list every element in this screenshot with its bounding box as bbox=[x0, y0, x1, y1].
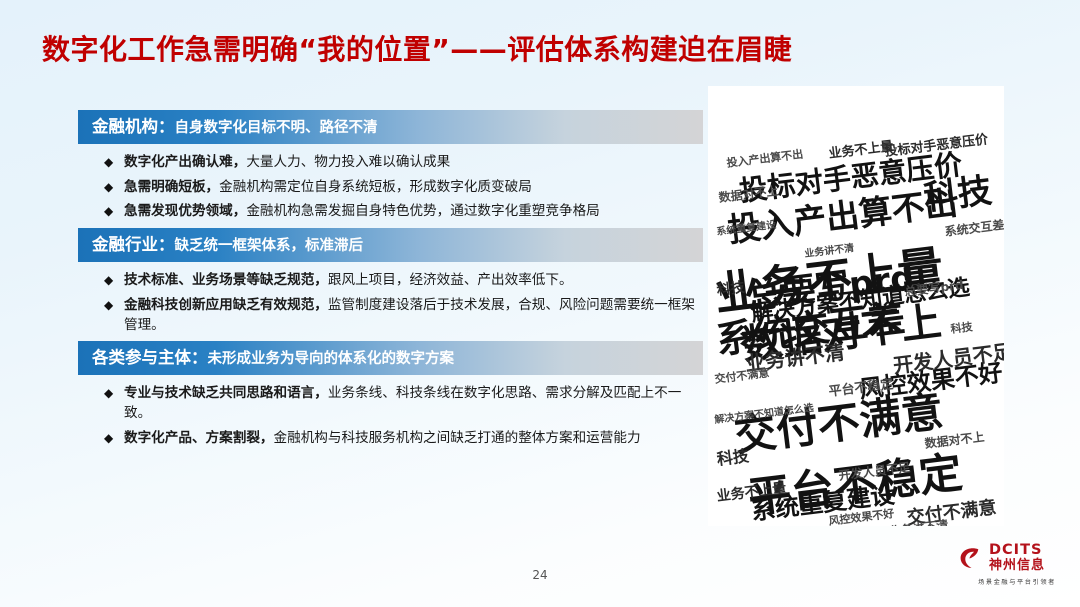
wordcloud-word: 交付不满意 bbox=[714, 367, 770, 385]
bullet-rest: 跟风上项目，经济效益、产出效率低下。 bbox=[328, 272, 573, 288]
bullet-list: ◆ 专业与技术缺乏共同思路和语言，业务条线、科技条线在数字化思路、需求分解及匹配… bbox=[78, 375, 703, 448]
bullet-lead: 急需明确短板， bbox=[124, 179, 219, 195]
section-header: 金融机构：自身数字化目标不明、路径不清 bbox=[78, 110, 703, 144]
bullet-list: ◆ 数字化产出确认难，大量人力、物力投入难以确认成果 ◆ 急需明确短板，金融机构… bbox=[78, 144, 703, 222]
logo-brand-cn: 神州信息 bbox=[989, 559, 1045, 572]
bullet-lead: 数字化产出确认难， bbox=[124, 154, 246, 170]
wordcloud-word: 交付不满意 bbox=[732, 390, 946, 457]
wordcloud-word: 科技 bbox=[950, 321, 973, 335]
list-item: ◆ 专业与技术缺乏共同思路和语言，业务条线、科技条线在数字化思路、需求分解及匹配… bbox=[104, 384, 703, 423]
bullet-list: ◆ 技术标准、业务场景等缺乏规范，跟风上项目，经济效益、产出效率低下。 ◆ 金融… bbox=[78, 262, 703, 335]
bullet-text: 急需发现优势领域，金融机构急需发掘自身特色优势，通过数字化重塑竞争格局 bbox=[124, 202, 703, 222]
section-financial-institutions: 金融机构：自身数字化目标不明、路径不清 ◆ 数字化产出确认难，大量人力、物力投入… bbox=[78, 110, 703, 222]
diamond-bullet-icon: ◆ bbox=[104, 429, 124, 448]
diamond-bullet-icon: ◆ bbox=[104, 178, 124, 197]
section-header-lead: 金融机构： bbox=[92, 117, 175, 136]
list-item: ◆ 数字化产出确认难，大量人力、物力投入难以确认成果 bbox=[104, 153, 703, 173]
list-item: ◆ 数字化产品、方案割裂，金融机构与科技服务机构之间缺乏打通的整体方案和运营能力 bbox=[104, 429, 703, 449]
list-item: ◆ 急需明确短板，金融机构需定位自身系统短板，形成数字化质变破局 bbox=[104, 178, 703, 198]
bullet-lead: 急需发现优势领域， bbox=[124, 203, 246, 219]
dcits-swirl-icon bbox=[958, 544, 984, 570]
bullet-lead: 金融科技创新应用缺乏有效规范， bbox=[124, 297, 328, 313]
bullet-text: 数字化产出确认难，大量人力、物力投入难以确认成果 bbox=[124, 153, 703, 173]
page-number: 24 bbox=[0, 568, 1080, 582]
company-logo: DCITS 神州信息 场景金融与平台引领者 bbox=[958, 543, 1076, 597]
diamond-bullet-icon: ◆ bbox=[104, 202, 124, 221]
wordcloud-words: 业务不上量平台不稳定交付不满意数据对不上系统交互差总要写prd投入产出算不出投标… bbox=[708, 86, 1004, 526]
logo-texts: DCITS 神州信息 bbox=[989, 543, 1045, 572]
bullet-text: 急需明确短板，金融机构需定位自身系统短板，形成数字化质变破局 bbox=[124, 178, 703, 198]
diamond-bullet-icon: ◆ bbox=[104, 153, 124, 172]
bullet-rest: 金融机构与科技服务机构之间缺乏打通的整体方案和运营能力 bbox=[274, 430, 641, 446]
diamond-bullet-icon: ◆ bbox=[104, 271, 124, 290]
diamond-bullet-icon: ◆ bbox=[104, 296, 124, 315]
section-participants: 各类参与主体：未形成业务为导向的体系化的数字方案 ◆ 专业与技术缺乏共同思路和语… bbox=[78, 341, 703, 448]
logo-tagline: 场景金融与平台引领者 bbox=[958, 577, 1076, 586]
diamond-bullet-icon: ◆ bbox=[104, 384, 124, 403]
logo-row: DCITS 神州信息 bbox=[958, 543, 1076, 572]
bullet-text: 专业与技术缺乏共同思路和语言，业务条线、科技条线在数字化思路、需求分解及匹配上不… bbox=[124, 384, 703, 423]
bullet-text: 数字化产品、方案割裂，金融机构与科技服务机构之间缺乏打通的整体方案和运营能力 bbox=[124, 429, 703, 449]
section-financial-industry: 金融行业：缺乏统一框架体系，标准滞后 ◆ 技术标准、业务场景等缺乏规范，跟风上项… bbox=[78, 228, 703, 335]
section-header-rest: 未形成业务为导向的体系化的数字方案 bbox=[208, 351, 455, 367]
bullet-rest: 金融机构急需发掘自身特色优势，通过数字化重塑竞争格局 bbox=[246, 203, 599, 219]
list-item: ◆ 急需发现优势领域，金融机构急需发掘自身特色优势，通过数字化重塑竞争格局 bbox=[104, 202, 703, 222]
list-item: ◆ 金融科技创新应用缺乏有效规范，监管制度建设落后于技术发展，合规、风险问题需要… bbox=[104, 296, 703, 335]
section-header-rest: 缺乏统一框架体系，标准滞后 bbox=[175, 238, 364, 254]
logo-brand-en: DCITS bbox=[989, 543, 1045, 558]
wordcloud-word: 科技 bbox=[716, 281, 745, 298]
list-item: ◆ 技术标准、业务场景等缺乏规范，跟风上项目，经济效益、产出效率低下。 bbox=[104, 271, 703, 291]
bullet-text: 技术标准、业务场景等缺乏规范，跟风上项目，经济效益、产出效率低下。 bbox=[124, 271, 703, 291]
section-header: 各类参与主体：未形成业务为导向的体系化的数字方案 bbox=[78, 341, 703, 375]
section-header-lead: 各类参与主体： bbox=[92, 348, 208, 367]
bullet-lead: 专业与技术缺乏共同思路和语言， bbox=[124, 385, 328, 401]
wordcloud-word: 科技 bbox=[716, 448, 750, 468]
section-header-rest: 自身数字化目标不明、路径不清 bbox=[175, 120, 378, 136]
section-header-lead: 金融行业： bbox=[92, 235, 175, 254]
section-header: 金融行业：缺乏统一框架体系，标准滞后 bbox=[78, 228, 703, 262]
bullet-rest: 金融机构需定位自身系统短板，形成数字化质变破局 bbox=[219, 179, 532, 195]
wordcloud-image: 业务不上量平台不稳定交付不满意数据对不上系统交互差总要写prd投入产出算不出投标… bbox=[708, 86, 1004, 526]
content-column: 金融机构：自身数字化目标不明、路径不清 ◆ 数字化产出确认难，大量人力、物力投入… bbox=[78, 110, 703, 454]
bullet-lead: 技术标准、业务场景等缺乏规范， bbox=[124, 272, 328, 288]
page-title: 数字化工作急需明确“我的位置”——评估体系构建迫在眉睫 bbox=[42, 28, 792, 68]
bullet-rest: 大量人力、物力投入难以确认成果 bbox=[246, 154, 450, 170]
bullet-lead: 数字化产品、方案割裂， bbox=[124, 430, 274, 446]
wordcloud-word: 投入产出算不出 bbox=[726, 149, 804, 169]
wordcloud-word: 科技 bbox=[922, 174, 994, 216]
bullet-text: 金融科技创新应用缺乏有效规范，监管制度建设落后于技术发展，合规、风险问题需要统一… bbox=[124, 296, 703, 335]
